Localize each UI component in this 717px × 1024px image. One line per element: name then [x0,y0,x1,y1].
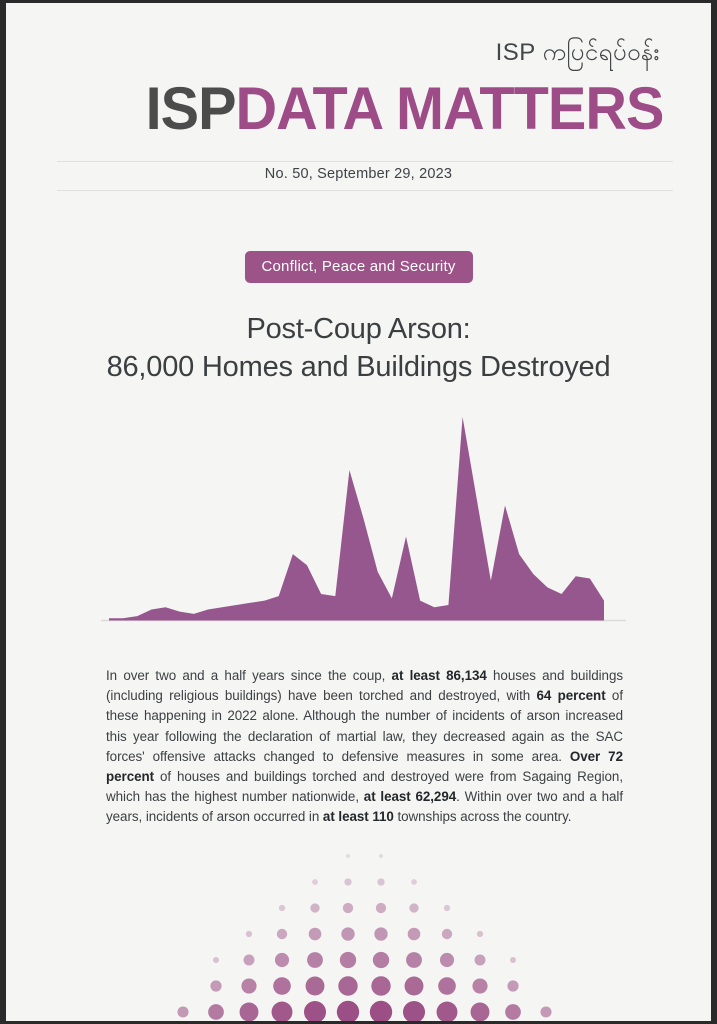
halftone-dot [341,927,354,940]
halftone-dot [507,980,518,991]
halftone-dot-svg [6,844,717,1024]
halftone-dot [346,854,350,858]
arson-incidents-area-chart [101,413,626,625]
halftone-dot [505,1004,521,1020]
halftone-dot [406,952,422,968]
myanmar-script-title: ISP ကပြင်ရပ်ဝန်း [496,41,660,65]
halftone-dot [472,978,487,993]
halftone-dot [177,1006,188,1017]
body-emphasis-7: at least 62,294 [364,789,456,804]
halftone-dot [306,977,325,996]
body-run-10: townships across the country. [394,809,572,824]
halftone-dot [279,905,285,911]
category-badge[interactable]: Conflict, Peace and Security [244,251,472,283]
halftone-dot [442,929,452,939]
chart-area-fill [109,417,604,621]
halftone-dot [312,879,318,885]
halftone-dot-decoration [6,844,717,1024]
halftone-dot [340,952,356,968]
halftone-dot [376,903,386,913]
halftone-dot [437,1002,458,1023]
article-body-text: In over two and a half years since the c… [106,666,623,828]
halftone-dot [477,931,483,937]
halftone-dot [210,980,221,991]
halftone-dot [208,1004,224,1020]
halftone-dot [343,903,353,913]
halftone-dot [540,1006,551,1017]
halftone-dot [475,955,486,966]
halftone-dot [304,1001,326,1023]
halftone-dot [510,957,516,963]
halftone-dot [344,878,351,885]
halftone-dot [241,978,256,993]
halftone-dot [409,903,418,912]
halftone-dot [444,905,450,911]
body-emphasis-1: at least 86,134 [392,668,487,683]
wordmark-isp: ISP [145,75,235,142]
halftone-dot [373,952,389,968]
masthead: ISP ကပြင်ရပ်ဝန်း ISPDATA MATTERS No. 50,… [6,3,711,203]
halftone-dot [272,1002,293,1023]
issue-date-line: No. 50, September 29, 2023 [6,166,711,182]
halftone-dot [338,976,357,995]
halftone-dot [411,879,417,885]
masthead-rule-top [57,161,673,162]
halftone-dot [244,955,255,966]
infographic-page: ISP ကပြင်ရပ်ဝန်း ISPDATA MATTERS No. 50,… [0,0,717,1024]
halftone-dot [213,957,219,963]
wordmark-data-matters: DATA MATTERS [235,75,663,142]
halftone-dot [370,1001,392,1023]
headline-line-2: 86,000 Homes and Buildings Destroyed [107,351,611,383]
halftone-dot [405,977,424,996]
halftone-dot [438,977,456,995]
halftone-dot [246,931,252,937]
page-title: Post-Coup Arson: 86,000 Homes and Buildi… [66,311,651,386]
halftone-dot [309,928,322,941]
halftone-dot [337,1001,359,1023]
halftone-dot [273,977,291,995]
body-run-0: In over two and a half years since the c… [106,668,392,683]
halftone-dot [377,878,384,885]
halftone-dot [403,1001,425,1023]
halftone-dot [371,976,390,995]
halftone-dot [277,929,287,939]
halftone-dot [275,953,289,967]
masthead-rule-bottom [57,190,673,191]
halftone-dot [379,854,383,858]
halftone-dot [307,952,323,968]
body-emphasis-3: 64 percent [536,688,605,703]
halftone-dot [471,1003,490,1022]
body-emphasis-9: at least 110 [323,809,394,824]
headline-line-1: Post-Coup Arson: [246,313,470,345]
halftone-dot [440,953,454,967]
area-chart-svg [101,413,626,625]
wordmark-logo: ISPDATA MATTERS [145,79,663,139]
halftone-dot [240,1003,259,1022]
halftone-dot [408,928,421,941]
halftone-dot [310,903,319,912]
halftone-dot [374,927,387,940]
